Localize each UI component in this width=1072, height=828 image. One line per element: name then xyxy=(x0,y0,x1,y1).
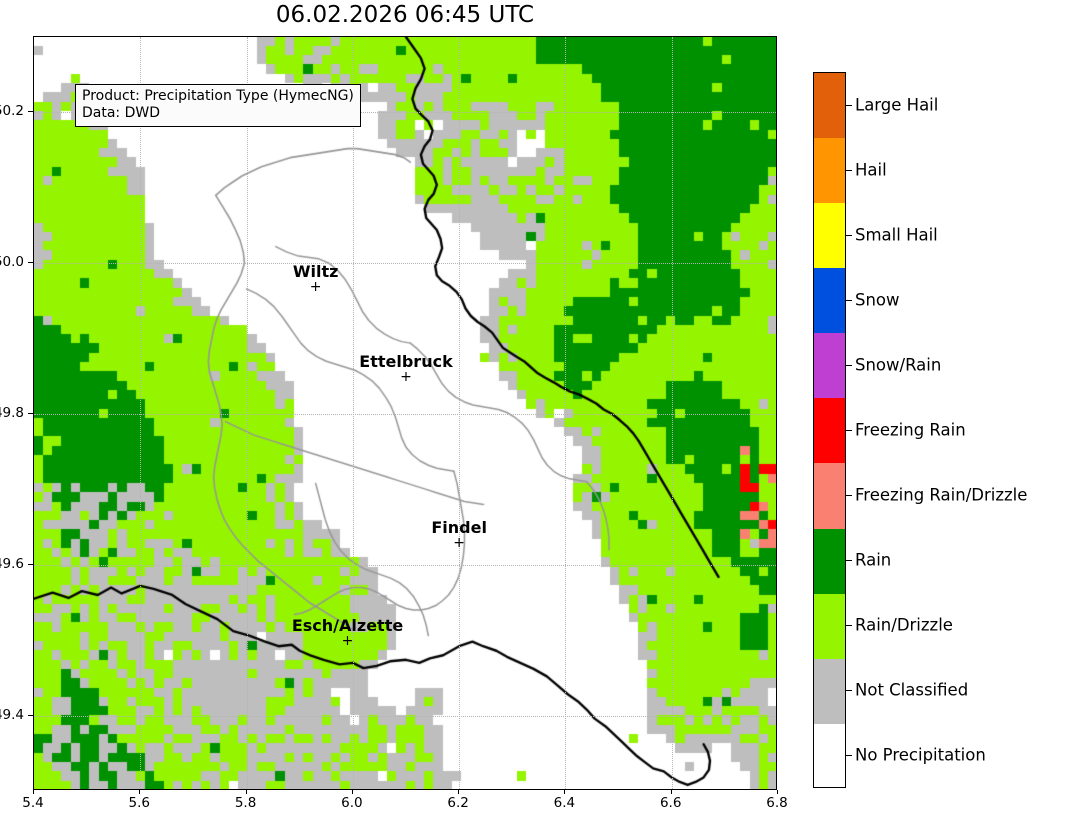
legend-tick xyxy=(846,495,852,496)
x-axis-tick-label: 5.8 xyxy=(235,795,256,811)
city-marker-icon: + xyxy=(431,536,487,551)
city-marker-icon: + xyxy=(359,370,452,385)
x-axis-tick-label: 6.8 xyxy=(766,795,787,811)
x-axis-tick-label: 5.4 xyxy=(22,795,43,811)
legend-label: Large Hail xyxy=(855,95,938,114)
legend-tick xyxy=(846,755,852,756)
gridline-horizontal xyxy=(34,716,776,717)
x-axis-tick-label: 6.4 xyxy=(554,795,575,811)
legend-tick xyxy=(846,430,852,431)
gridline-vertical xyxy=(353,37,354,789)
legend-tick xyxy=(846,105,852,106)
legend-tick xyxy=(846,300,852,301)
legend-label: Freezing Rain xyxy=(855,421,966,440)
y-axis-tick-label: 50.0 xyxy=(0,254,24,270)
city-label-wiltz: Wiltz+ xyxy=(293,264,339,295)
legend-tick xyxy=(846,235,852,236)
gridline-vertical xyxy=(459,37,460,789)
legend-tick xyxy=(846,690,852,691)
x-axis-tick xyxy=(139,790,140,794)
legend-label: Hail xyxy=(855,160,887,179)
x-axis-tick xyxy=(246,790,247,794)
x-axis-tick xyxy=(458,790,459,794)
city-name: Findel xyxy=(431,520,487,536)
x-axis-tick xyxy=(777,790,778,794)
legend-label: Rain xyxy=(855,551,891,570)
legend-band-snow[interactable] xyxy=(814,268,845,333)
gridline-vertical xyxy=(247,37,248,789)
page-title: 06.02.2026 06:45 UTC xyxy=(33,2,777,28)
legend-band-large-hail[interactable] xyxy=(814,73,845,138)
legend-band-freezing-rain-drizzle[interactable] xyxy=(814,463,845,528)
legend-band-snow-rain[interactable] xyxy=(814,333,845,398)
legend-label: Not Classified xyxy=(855,681,968,700)
city-label-ettelbruck: Ettelbruck+ xyxy=(359,354,452,385)
x-axis-tick xyxy=(671,790,672,794)
city-label-esch-alzette: Esch/Alzette+ xyxy=(292,618,403,649)
y-axis-tick xyxy=(28,715,33,716)
gridline-horizontal xyxy=(34,414,776,415)
legend-label: Freezing Rain/Drizzle xyxy=(855,486,1027,505)
legend-label: No Precipitation xyxy=(855,746,986,765)
city-marker-icon: + xyxy=(292,634,403,649)
gridline-vertical xyxy=(140,37,141,789)
y-axis-tick xyxy=(28,262,33,263)
y-axis-tick-label: 49.6 xyxy=(0,556,24,572)
legend-band-not-classified[interactable] xyxy=(814,659,845,724)
city-name: Esch/Alzette xyxy=(292,618,403,634)
city-label-findel: Findel+ xyxy=(431,520,487,551)
legend-colorbar[interactable] xyxy=(813,72,846,788)
legend-tick xyxy=(846,625,852,626)
y-axis-tick-label: 49.8 xyxy=(0,405,24,421)
y-axis-tick xyxy=(28,111,33,112)
legend-band-freezing-rain[interactable] xyxy=(814,398,845,463)
legend-label: Small Hail xyxy=(855,225,938,244)
x-axis-tick xyxy=(564,790,565,794)
x-axis-tick-label: 5.6 xyxy=(129,795,150,811)
legend-band-rain-drizzle[interactable] xyxy=(814,594,845,659)
gridline-vertical xyxy=(565,37,566,789)
legend-label: Rain/Drizzle xyxy=(855,616,953,635)
product-line: Product: Precipitation Type (HymecNG) xyxy=(82,88,354,105)
legend-band-hail[interactable] xyxy=(814,138,845,203)
legend-band-rain[interactable] xyxy=(814,529,845,594)
product-info-box: Product: Precipitation Type (HymecNG) Da… xyxy=(75,84,361,127)
legend-label: Snow xyxy=(855,290,900,309)
x-axis-tick xyxy=(352,790,353,794)
gridline-horizontal xyxy=(34,263,776,264)
data-source-line: Data: DWD xyxy=(82,105,354,122)
city-marker-icon: + xyxy=(293,280,339,295)
legend-tick xyxy=(846,365,852,366)
legend-tick xyxy=(846,170,852,171)
legend-band-no-precipitation[interactable] xyxy=(814,724,845,788)
y-axis-tick-label: 50.2 xyxy=(0,103,24,119)
y-axis-tick xyxy=(28,413,33,414)
city-name: Wiltz xyxy=(293,264,339,280)
y-axis-tick xyxy=(28,564,33,565)
x-axis-tick xyxy=(33,790,34,794)
y-axis-tick-label: 49.4 xyxy=(0,707,24,723)
legend-tick xyxy=(846,560,852,561)
legend-label: Snow/Rain xyxy=(855,355,941,374)
gridline-horizontal xyxy=(34,565,776,566)
map-plot-area[interactable]: Wiltz+Ettelbruck+Findel+Esch/Alzette+ Pr… xyxy=(33,36,777,790)
legend-band-small-hail[interactable] xyxy=(814,203,845,268)
x-axis-tick-label: 6.2 xyxy=(447,795,468,811)
city-name: Ettelbruck xyxy=(359,354,452,370)
weather-map-figure: 06.02.2026 06:45 UTC Wiltz+Ettelbruck+Fi… xyxy=(0,0,1072,828)
x-axis-tick-label: 6.6 xyxy=(660,795,681,811)
gridline-vertical xyxy=(672,37,673,789)
x-axis-tick-label: 6.0 xyxy=(341,795,362,811)
